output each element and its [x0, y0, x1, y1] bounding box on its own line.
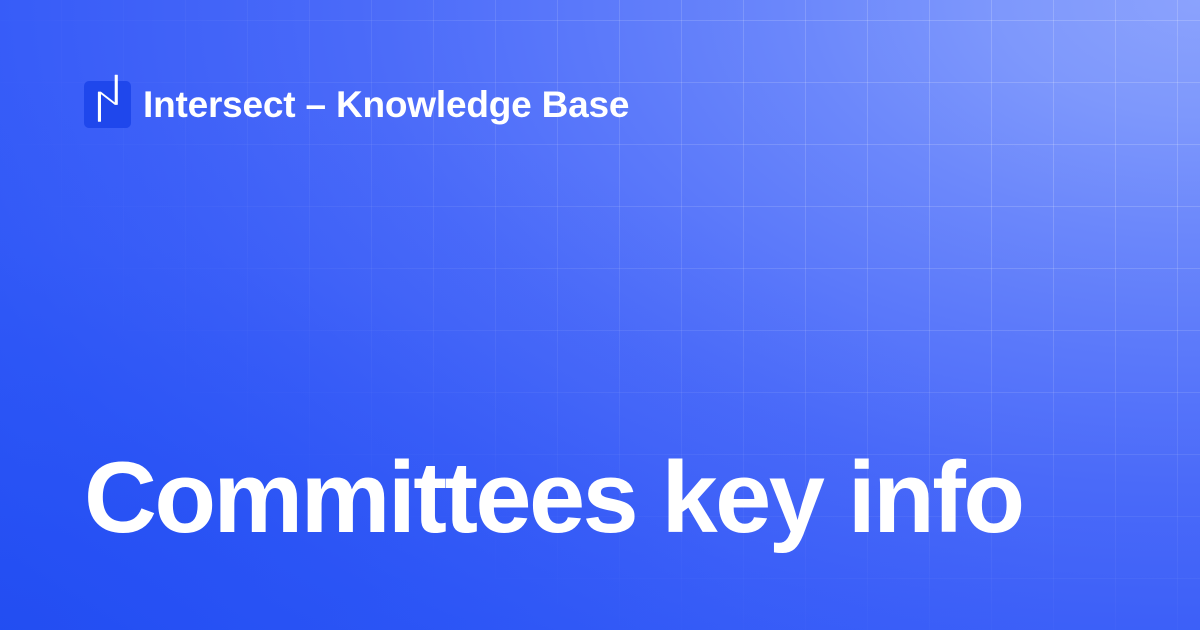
brand-title: Intersect – Knowledge Base — [143, 86, 629, 123]
brand-header: Intersect – Knowledge Base — [84, 79, 629, 129]
card-content: Intersect – Knowledge Base Committees ke… — [0, 0, 1200, 630]
page-title: Committees key info — [84, 446, 1124, 551]
og-card: Intersect – Knowledge Base Committees ke… — [0, 0, 1200, 630]
intersect-n-logo-icon — [84, 81, 131, 128]
